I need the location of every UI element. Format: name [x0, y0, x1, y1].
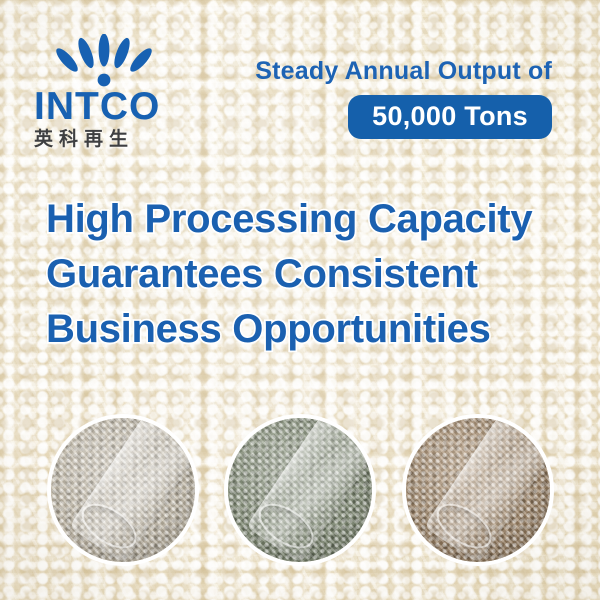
intco-chinese-name: 英科再生	[34, 128, 194, 150]
sample-shading-green	[228, 418, 372, 562]
promo-poster: INTCO 英科再生 Steady Annual Output of 50,00…	[0, 0, 600, 600]
intco-wordmark: INTCO	[34, 90, 194, 124]
page-title: High Processing Capacity Guarantees Cons…	[46, 192, 566, 357]
pellet-sample-clear	[47, 414, 199, 566]
product-sample-row	[0, 414, 600, 600]
output-claim-text: Steady Annual Output of	[222, 56, 552, 86]
intco-logo: INTCO 英科再生	[34, 34, 194, 150]
intco-burst-icon	[44, 34, 164, 88]
sample-shading-clear	[51, 418, 195, 562]
pellet-sample-green	[224, 414, 376, 566]
headline-line-3: Business Opportunities	[46, 302, 566, 357]
pellet-sample-brown	[402, 414, 554, 566]
output-value-badge: 50,000 Tons	[348, 95, 552, 139]
output-claim: Steady Annual Output of 50,000 Tons	[222, 56, 552, 139]
sample-shading-brown	[406, 418, 550, 562]
headline-line-1: High Processing Capacity	[46, 192, 566, 247]
headline-line-2: Guarantees Consistent	[46, 247, 566, 302]
